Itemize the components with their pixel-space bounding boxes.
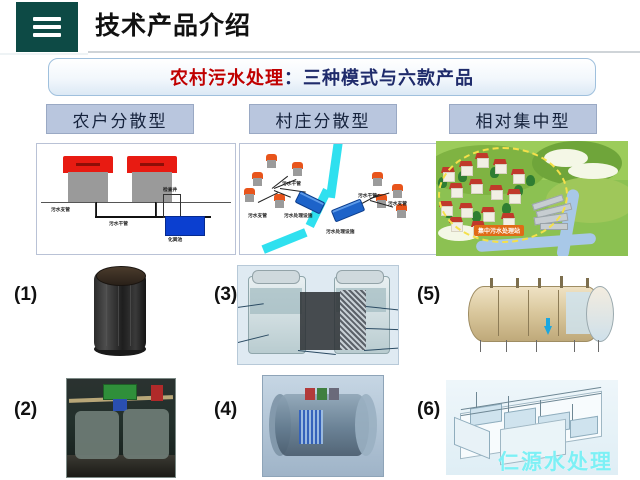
hamburger-menu-icon: [33, 17, 61, 37]
village-house: [266, 154, 277, 168]
treatment-unit: [331, 198, 366, 222]
watermark: 仁源水处理: [498, 446, 613, 476]
header-divider: [88, 51, 640, 53]
top-equipment: [305, 388, 315, 400]
village-house: [274, 194, 285, 208]
column-header-household: 农户分散型: [46, 104, 194, 134]
house-roof: [63, 156, 113, 173]
house-roof: [127, 156, 177, 173]
subtitle-red-text: 农村污水处理: [170, 64, 284, 90]
nozzle: [538, 278, 541, 288]
village-house: [252, 172, 263, 186]
horizontal-vessel-schematic: [446, 266, 624, 361]
page-header: 技术产品介绍: [0, 0, 640, 54]
product-number-6: (6): [417, 399, 440, 421]
rail-post: [540, 400, 541, 416]
river: [261, 228, 307, 254]
inspection-well: [163, 194, 181, 218]
label-inspection-well: 检查井: [163, 186, 177, 193]
nozzle: [490, 278, 493, 288]
access-cover: [336, 270, 384, 284]
internal-media: [299, 410, 323, 444]
water-level: [250, 288, 302, 314]
top-equipment: [329, 388, 339, 400]
village-house: [372, 172, 383, 186]
rail-post: [476, 392, 477, 408]
filter-media: [340, 290, 366, 350]
column-header-centralized: 相对集中型: [449, 104, 597, 134]
product-number-1: (1): [14, 284, 37, 306]
nozzle: [560, 276, 563, 288]
black-cylindrical-tank: [72, 264, 167, 364]
rail-post: [572, 404, 573, 420]
baffle: [528, 290, 529, 336]
tank-right: [123, 409, 169, 459]
label-main-pipe: 污水干管: [109, 220, 128, 227]
product-number-3: (3): [214, 284, 237, 306]
tank-lid: [96, 266, 146, 286]
baffle: [498, 290, 499, 336]
rail-post: [508, 396, 509, 412]
house-body: [68, 172, 108, 202]
leader-line: [598, 340, 599, 352]
access-cover: [252, 270, 300, 284]
baffle: [558, 290, 559, 336]
product-number-5: (5): [417, 284, 440, 306]
tank-cutaway-diagram: [237, 265, 399, 365]
subtitle-banner: 农村污水处理 ：三种模式与六款产品: [48, 58, 596, 96]
label-branch-pipe: 污水支管: [51, 206, 70, 213]
media-chamber: [300, 292, 340, 350]
installed-tank-photo: [66, 378, 176, 478]
red-control-box: [151, 385, 163, 401]
label-treatment-facility: 污水处理设施: [326, 228, 355, 235]
label-branch-pipe: 污水支管: [248, 212, 267, 219]
tank-3d-render: [262, 375, 384, 477]
cloud: [568, 163, 618, 179]
label-branch-pipe: 污水支管: [388, 200, 407, 207]
green-panel: [103, 384, 137, 400]
vessel-end-cap: [586, 286, 614, 342]
leader-line: [480, 340, 481, 352]
leader-line: [574, 340, 575, 352]
village-network-schematic: 污水支管 污水干管 污水处理设施 污水干管 污水支管 污水处理设施: [239, 143, 439, 255]
nozzle: [516, 278, 519, 288]
branch-pipe: [95, 202, 157, 217]
tank-left: [75, 411, 119, 459]
subtitle-blue-text: ：三种模式与六款产品: [284, 64, 474, 90]
septic-tank: [165, 216, 205, 236]
label-main-pipe: 污水干管: [358, 192, 377, 199]
label-treatment-facility: 污水处理设施: [284, 212, 313, 219]
header-divider-left: [0, 53, 88, 55]
slide-root: 技术产品介绍 农村污水处理 ：三种模式与六款产品 农户分散型 村庄分散型 相对集…: [0, 0, 640, 480]
tank-rib: [106, 278, 107, 346]
hamburger-menu-button[interactable]: [16, 2, 78, 52]
end-cap-right: [355, 394, 377, 456]
label-centralized-plant: 集中污水处理站: [474, 225, 524, 236]
tank-rib: [130, 278, 131, 346]
household-sewage-schematic: 污水支管 污水干管 检查井 化粪池: [36, 143, 236, 255]
product-number-2: (2): [14, 399, 37, 421]
village-house: [392, 184, 403, 198]
village-house: [292, 162, 303, 176]
column-header-village: 村庄分散型: [249, 104, 397, 134]
village-house: [244, 188, 255, 202]
label-septic-tank: 化粪池: [168, 236, 182, 243]
product-number-4: (4): [214, 399, 237, 421]
tank-rib: [118, 278, 119, 346]
leader-line: [506, 340, 507, 352]
leader-line: [536, 340, 537, 352]
label-main-pipe: 污水干管: [282, 180, 301, 187]
centralized-village-illustration: 集中污水处理站: [436, 141, 628, 256]
flow-arrow-icon: [544, 326, 552, 335]
page-title: 技术产品介绍: [95, 6, 251, 46]
nozzle: [586, 278, 589, 288]
top-equipment: [317, 388, 327, 400]
